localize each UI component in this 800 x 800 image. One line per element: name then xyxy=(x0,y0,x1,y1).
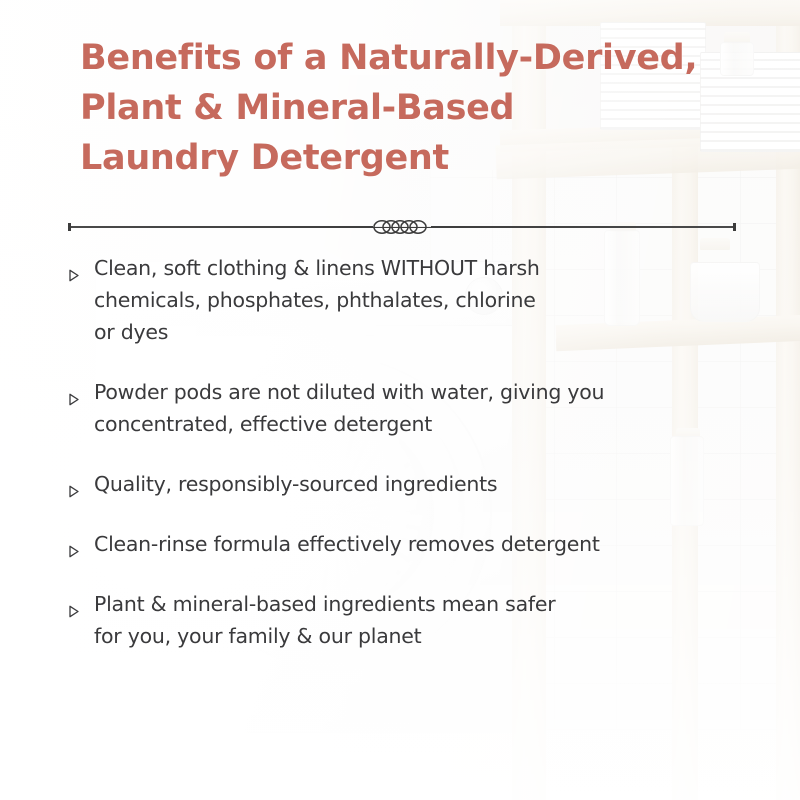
list-item: Clean, soft clothing & linens WITHOUT ha… xyxy=(68,252,728,348)
page-title-line-3: Laundry Detergent xyxy=(80,133,680,183)
list-item: Plant & mineral-based ingredients mean s… xyxy=(68,588,728,652)
list-item-line: concentrated, effective detergent xyxy=(94,408,728,440)
list-item-line: for you, your family & our planet xyxy=(94,620,728,652)
benefits-list: Clean, soft clothing & linens WITHOUT ha… xyxy=(68,252,728,652)
list-item-line: Quality, responsibly-sourced ingredients xyxy=(94,468,728,500)
list-item-line: Clean, soft clothing & linens WITHOUT ha… xyxy=(94,252,728,284)
triangle-right-outline-bullet-icon xyxy=(68,595,80,609)
poster-content: Benefits of a Naturally-Derived, Plant &… xyxy=(0,0,800,800)
spiral-braid-ornament xyxy=(373,217,431,237)
page-title-line-2: Plant & Mineral-Based xyxy=(80,83,680,133)
list-item: Powder pods are not diluted with water, … xyxy=(68,376,728,440)
list-item-line: Plant & mineral-based ingredients mean s… xyxy=(94,588,728,620)
page-title-line-1: Benefits of a Naturally-Derived, xyxy=(80,33,680,83)
list-item-line: Clean-rinse formula effectively removes … xyxy=(94,528,728,560)
page-title: Benefits of a Naturally-Derived, Plant &… xyxy=(80,33,680,183)
triangle-right-outline-bullet-icon xyxy=(68,535,80,549)
divider-cap-right xyxy=(733,223,736,231)
list-item-line: Powder pods are not diluted with water, … xyxy=(94,376,728,408)
list-item: Quality, responsibly-sourced ingredients xyxy=(68,468,728,500)
triangle-right-outline-bullet-icon xyxy=(68,475,80,489)
list-item-text: Clean, soft clothing & linens WITHOUT ha… xyxy=(94,252,728,348)
divider xyxy=(68,215,736,239)
triangle-right-outline-bullet-icon xyxy=(68,383,80,397)
list-item-text: Clean-rinse formula effectively removes … xyxy=(94,528,728,560)
poster-canvas: Benefits of a Naturally-Derived, Plant &… xyxy=(0,0,800,800)
triangle-right-outline-bullet-icon xyxy=(68,259,80,273)
list-item-line: chemicals, phosphates, phthalates, chlor… xyxy=(94,284,728,316)
list-item-text: Powder pods are not diluted with water, … xyxy=(94,376,728,440)
list-item: Clean-rinse formula effectively removes … xyxy=(68,528,728,560)
divider-cap-left xyxy=(68,223,71,231)
list-item-text: Quality, responsibly-sourced ingredients xyxy=(94,468,728,500)
list-item-line: or dyes xyxy=(94,316,728,348)
list-item-text: Plant & mineral-based ingredients mean s… xyxy=(94,588,728,652)
